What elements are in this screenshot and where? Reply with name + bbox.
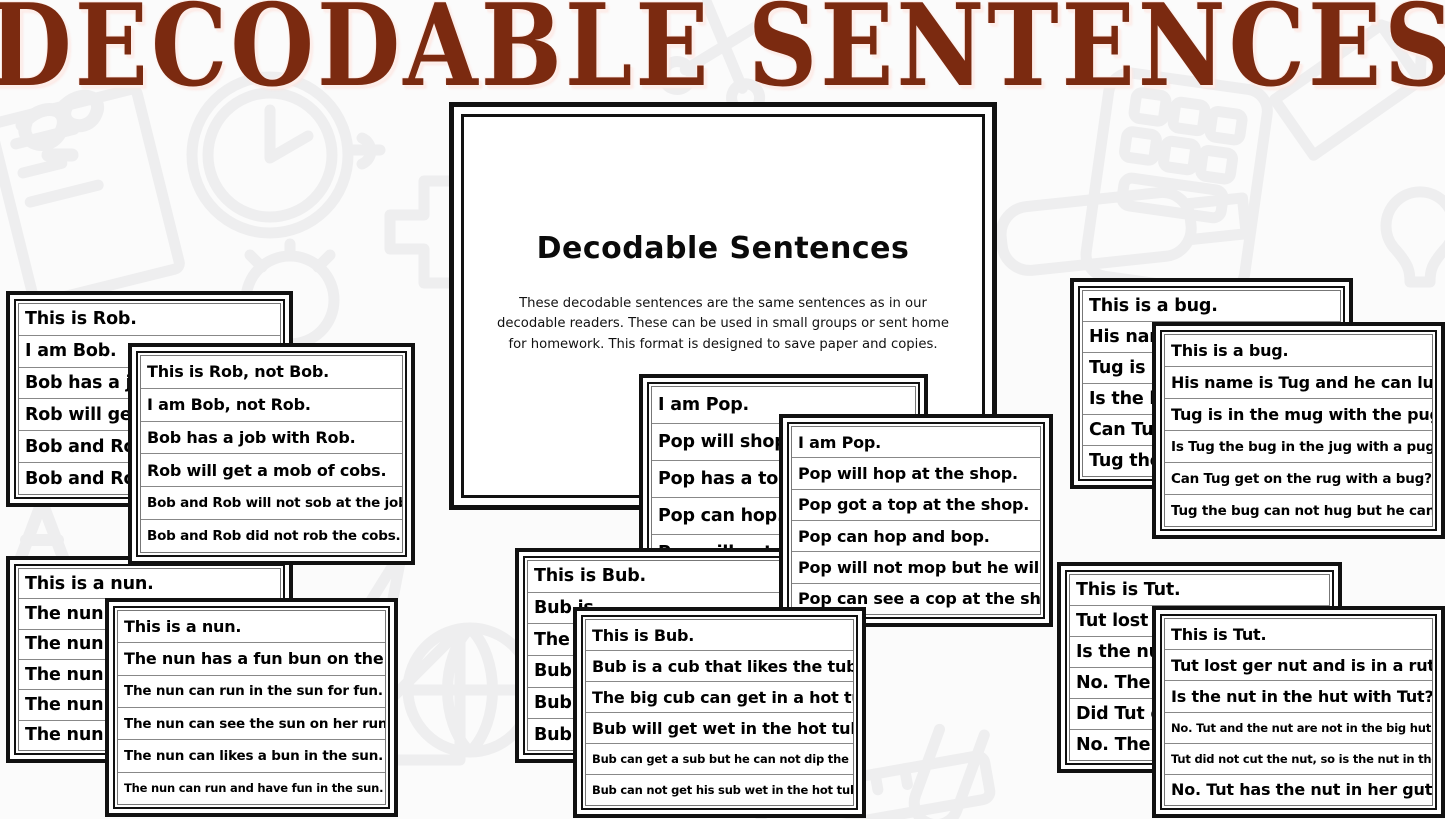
cover-description: These decodable sentences are the same s… [494, 294, 952, 355]
sentence-row: Tut did not cut the nut, so is the nut i… [1165, 744, 1432, 775]
rob-full-card: This is Rob, not Bob. I am Bob, not Rob.… [128, 343, 415, 565]
abc-doodle [20, 502, 64, 560]
sentence-row: This is Tut. [1070, 575, 1329, 606]
sentence-row: His name is Tug and he can lug. [1165, 367, 1432, 399]
sentence-row: This is Tut. [1165, 619, 1432, 650]
sentence-row: No. Tut has the nut in her gut! [1165, 775, 1432, 805]
sentence-row: This is a nun. [118, 611, 385, 643]
sentence-row: Bub is a cub that likes the tub. [586, 651, 853, 682]
bug-full-card: This is a bug. His name is Tug and he ca… [1152, 322, 1445, 539]
sentence-row: This is a bug. [1083, 291, 1340, 322]
card-inner: This is a nun. The nun has a fun bun on … [113, 606, 390, 809]
sentence-row: The nun can see the sun on her run. [118, 708, 385, 740]
sentence-row: Bub can not get his sub wet in the hot t… [586, 775, 853, 805]
sentence-row: This is Bub. [586, 620, 853, 651]
banner-title: DECODABLE SENTENCES [0, 0, 1445, 103]
marker-doodle [998, 184, 1247, 273]
sentence-row: The nun can run in the sun for fun. [118, 676, 385, 708]
sentence-row: Bub will get wet in the hot tub. [586, 713, 853, 744]
pop-full-card: I am Pop. Pop will hop at the shop. Pop … [779, 414, 1053, 627]
sentence-row: The big cub can get in a hot tub. [586, 682, 853, 713]
sentence-row: Bob and Rob will not sob at the job. [141, 487, 402, 520]
card-inner: I am Pop. Pop will hop at the shop. Pop … [787, 422, 1045, 619]
tut-full-card: This is Tut. Tut lost ger nut and is in … [1152, 606, 1445, 818]
sentence-row: Bob has a job with Rob. [141, 422, 402, 455]
sentence-row: Is the nut in the hut with Tut? [1165, 681, 1432, 712]
card-inner: This is Rob, not Bob. I am Bob, not Rob.… [136, 351, 407, 557]
sentence-rows: This is a nun. The nun has a fun bun on … [117, 610, 386, 805]
sentence-row: I am Pop. [792, 427, 1040, 458]
sentence-row: Tug is in the mug with the pug. [1165, 399, 1432, 431]
sentence-row: The nun can likes a bun in the sun. [118, 740, 385, 772]
sentence-row: No. Tut and the nut are not in the big h… [1165, 713, 1432, 744]
sentence-row: Tug the bug can not hug but he can lug. [1165, 495, 1432, 526]
sentence-row: This is Rob. [19, 304, 280, 336]
bub-full-card: This is Bub. Bub is a cub that likes the… [573, 607, 866, 818]
sentence-row: This is Bub. [528, 561, 779, 593]
sentence-rows: This is Bub. Bub is a cub that likes the… [585, 619, 854, 806]
card-inner: This is a bug. His name is Tug and he ca… [1160, 330, 1437, 531]
sentence-row: Can Tug get on the rug with a bug? [1165, 463, 1432, 495]
cover-title: Decodable Sentences [537, 231, 910, 266]
sentence-row: Rob will get a mob of cobs. [141, 454, 402, 487]
sentence-row: Tut lost ger nut and is in a rut. [1165, 650, 1432, 681]
sentence-row: Bob and Rob did not rob the cobs. [141, 520, 402, 552]
card-inner: This is Tut. Tut lost ger nut and is in … [1160, 614, 1437, 810]
card-inner: This is Bub. Bub is a cub that likes the… [581, 615, 858, 810]
sentence-rows: I am Pop. Pop will hop at the shop. Pop … [791, 426, 1041, 615]
sentence-row: The nun can run and have fun in the sun. [118, 773, 385, 804]
sentence-row: This is a bug. [1165, 335, 1432, 367]
globe-doodle [408, 628, 532, 752]
sentence-row: Pop will not mop but he will bop. [792, 552, 1040, 583]
sentence-row: I am Bob, not Rob. [141, 389, 402, 422]
sentence-row: Pop can hop and bop. [792, 521, 1040, 552]
sentence-rows: This is Rob, not Bob. I am Bob, not Rob.… [140, 355, 403, 553]
sentence-row: Pop got a top at the shop. [792, 490, 1040, 521]
nun-full-card: This is a nun. The nun has a fun bun on … [105, 598, 398, 817]
notebook-doodle [0, 88, 181, 304]
sentence-row: This is Rob, not Bob. [141, 356, 402, 389]
sentence-rows: This is a bug. His name is Tug and he ca… [1164, 334, 1433, 527]
paperclip-doodle [908, 720, 984, 819]
sentence-row: Bub can get a sub but he can not dip the… [586, 744, 853, 775]
sentence-row: Is Tug the bug in the jug with a pug? [1165, 431, 1432, 463]
page-banner: DECODABLE SENTENCES [0, 0, 1445, 98]
lightbulb-doodle [1386, 192, 1445, 282]
sentence-row: The nun has a fun bun on the top. [118, 643, 385, 675]
sentence-row: This is a nun. [19, 569, 280, 599]
sentence-row: Pop will hop at the shop. [792, 458, 1040, 489]
sentence-rows: This is Tut. Tut lost ger nut and is in … [1164, 618, 1433, 806]
